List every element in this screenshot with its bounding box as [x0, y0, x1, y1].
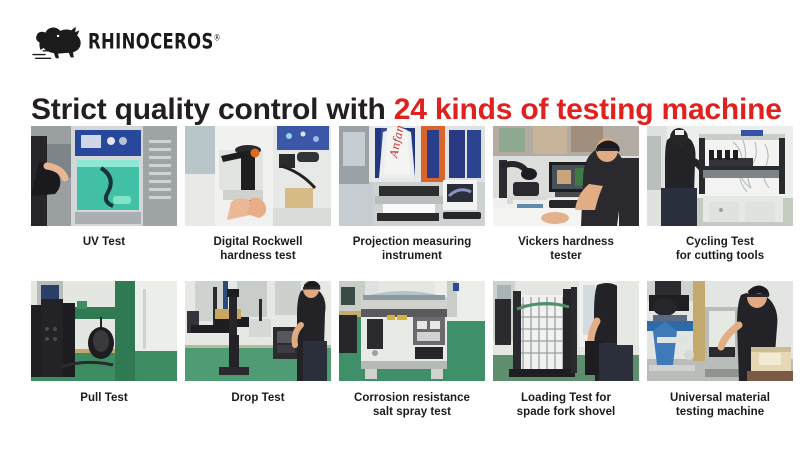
testing-machine-gallery: UV Test: [31, 126, 769, 419]
gallery-row-2: Pull Test: [31, 281, 769, 419]
brand-logo: RHINOCEROS®: [31, 20, 221, 64]
gallery-item-loading-test[interactable]: Loading Test for spade fork shovel: [493, 281, 639, 419]
salt-spray-corrosion-chamber-photo: [339, 281, 485, 381]
caption-line-2: instrument: [382, 250, 442, 262]
caption-line-1: Cycling Test: [686, 236, 754, 248]
rhinoceros-logo-icon: [31, 22, 87, 62]
gallery-item-pull-test[interactable]: Pull Test: [31, 281, 177, 419]
title-accent: 24 kinds of testing machine: [394, 93, 782, 126]
gallery-caption: Cycling Test for cutting tools: [645, 235, 795, 263]
gallery-caption: UV Test: [29, 235, 179, 249]
projection-measuring-instrument-photo: Anfang: [339, 126, 485, 226]
pull-test-rig-photo: [31, 281, 177, 381]
registered-trademark-mark: ®: [214, 33, 221, 43]
digital-rockwell-hardness-tester-photo: [185, 126, 331, 226]
universal-material-testing-machine-photo: [647, 281, 793, 381]
caption-line-2: salt spray test: [373, 406, 451, 418]
uv-test-chamber-photo: [31, 126, 177, 226]
caption-line-1: Corrosion resistance: [354, 392, 470, 404]
gallery-caption: Projection measuring instrument: [337, 235, 487, 263]
caption-line-2: testing machine: [676, 406, 764, 418]
gallery-item-vickers-hardness[interactable]: Vickers hardness tester: [493, 126, 639, 263]
caption-line-1: Universal material: [670, 392, 770, 404]
gallery-item-drop-test[interactable]: Drop Test: [185, 281, 331, 419]
gallery-caption: Digital Rockwell hardness test: [183, 235, 333, 263]
caption-line-2: tester: [550, 250, 582, 262]
gallery-item-salt-spray[interactable]: Corrosion resistance salt spray test: [339, 281, 485, 419]
caption-line-1: Vickers hardness: [518, 236, 614, 248]
gallery-caption: Pull Test: [29, 391, 179, 405]
caption-line-1: Digital Rockwell: [214, 236, 303, 248]
caption-line-1: Loading Test for: [521, 392, 611, 404]
brand-wordmark: RHINOCEROS®: [88, 30, 221, 55]
caption-line-2: hardness test: [220, 250, 295, 262]
gallery-row-1: UV Test: [31, 126, 769, 263]
caption-line-2: for cutting tools: [676, 250, 764, 262]
gallery-caption: Drop Test: [183, 391, 333, 405]
gallery-item-projection-measuring[interactable]: Anfang Projection measuring instrument: [339, 126, 485, 263]
title-lead: Strict quality control with: [31, 93, 394, 126]
loading-test-spade-fork-shovel-photo: [493, 281, 639, 381]
gallery-caption: Universal material testing machine: [645, 391, 795, 419]
gallery-item-uv-test[interactable]: UV Test: [31, 126, 177, 263]
gallery-caption: Vickers hardness tester: [491, 235, 641, 263]
gallery-item-universal-testing[interactable]: Universal material testing machine: [647, 281, 793, 419]
gallery-item-cycling-test[interactable]: Cycling Test for cutting tools: [647, 126, 793, 263]
cycling-test-machine-photo: [647, 126, 793, 226]
caption-line-1: Projection measuring: [353, 236, 472, 248]
caption-line-2: spade fork shovel: [517, 406, 616, 418]
gallery-item-digital-rockwell[interactable]: Digital Rockwell hardness test: [185, 126, 331, 263]
gallery-caption: Loading Test for spade fork shovel: [491, 391, 641, 419]
drop-test-rig-photo: [185, 281, 331, 381]
gallery-caption: Corrosion resistance salt spray test: [337, 391, 487, 419]
page-title: Strict quality control with 24 kinds of …: [31, 92, 776, 128]
vickers-hardness-tester-photo: [493, 126, 639, 226]
slide-canvas: RHINOCEROS® Strict quality control with …: [0, 0, 800, 449]
